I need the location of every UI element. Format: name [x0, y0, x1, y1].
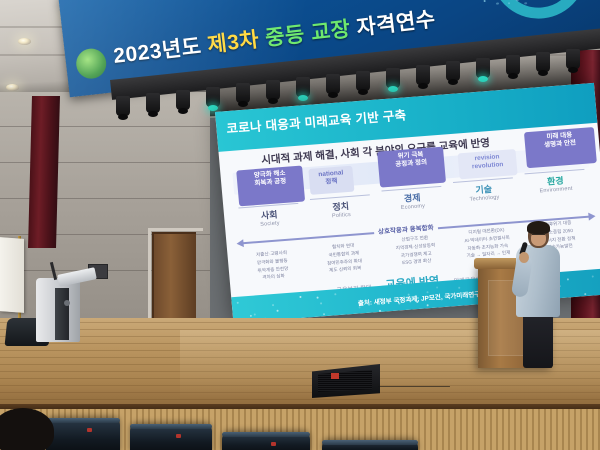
slide-chip: 위기 극복공정과 정의 [377, 147, 446, 188]
speaker-brand-badge [331, 373, 339, 379]
stage-light-fixture [236, 83, 250, 103]
slide-chip: 양극화 해소회복과 공정 [236, 165, 305, 206]
stage-light-fixture [356, 71, 370, 91]
banner-title-program: 자격연수 [355, 8, 436, 40]
seat-number-badge [176, 434, 181, 438]
stage-light-fixture [176, 90, 190, 110]
banner-dot-pattern [470, 0, 536, 10]
banner-title-year: 2023년도 [112, 34, 209, 68]
stage-light-fixture [386, 68, 400, 88]
presenter-hair [527, 221, 550, 234]
stage-light-fixture [506, 55, 520, 75]
seat-top-rail [222, 432, 310, 437]
slide-chip: national정책 [308, 166, 354, 195]
slide-column-body: 협치와 연대국민통합의 과제참여민주주의 확대제도 신뢰의 회복 [309, 240, 380, 276]
seat-top-rail [46, 418, 120, 423]
slide-column-body: 산업구조 전환지역경제·신성장동력국가경쟁력 제고ESG 경영 확산 [381, 232, 452, 268]
slide-column-body: 저출산·고령사회양극화와 불평등취약계층 안전망격차의 심화 [237, 247, 308, 283]
institute-logo-icon [75, 47, 108, 80]
banner-title-level: 중등 교장 [264, 17, 358, 50]
slide-column-header: 기술Technology [450, 180, 517, 204]
slide-column-header: 환경Environment [522, 172, 589, 196]
stage-curtain-left [28, 96, 60, 248]
stage-light-fixture [476, 58, 490, 78]
stage-light-fixture [296, 77, 310, 97]
stage-light-fixture [146, 93, 160, 113]
slide-column-header: 경제Economy [379, 189, 446, 213]
downlight [18, 38, 31, 45]
slide-column-header: 사회Society [236, 206, 303, 230]
chip-line: 정책 [311, 177, 352, 188]
presenter-glasses-icon [532, 234, 545, 239]
seat-number-badge [271, 442, 276, 446]
speaker-cable [378, 386, 450, 401]
stage-light-fixture [266, 80, 280, 100]
korean-flag-icon [0, 237, 24, 313]
stage-light-fixture [206, 87, 220, 107]
slide-column-body: 디지털 대전환(DX)AI·빅데이터·초연결사회자동화·초지능화 가속기술 → … [452, 225, 523, 261]
slide-chip: 미래 대응생명과 안전 [524, 127, 597, 168]
stage-light-fixture [326, 74, 340, 94]
seat-number-badge [87, 428, 92, 432]
seat-top-rail [322, 440, 418, 445]
slide-chip: revisionrevolution [458, 149, 518, 179]
console-rack-panel [55, 288, 69, 340]
banner-ring-graphic [485, 0, 591, 24]
presenter-legs [523, 312, 553, 368]
lecture-hall-photo: 2023년도 제3차 중등 교장 자격연수 기간 | 2023. 6. 26.(… [0, 0, 600, 450]
presenter-hand [519, 252, 529, 263]
banner-title-session: 제3차 [206, 28, 266, 58]
console-button[interactable] [64, 300, 70, 306]
stage-light-fixture [116, 96, 130, 116]
slide-column-header: 정치Politics [307, 197, 374, 221]
stage-light-fixture [536, 52, 550, 72]
seat-top-rail [130, 424, 212, 429]
stage-light-fixture [446, 61, 460, 81]
stage-light-fixture [566, 49, 580, 69]
stage-light-fixture [416, 65, 430, 85]
